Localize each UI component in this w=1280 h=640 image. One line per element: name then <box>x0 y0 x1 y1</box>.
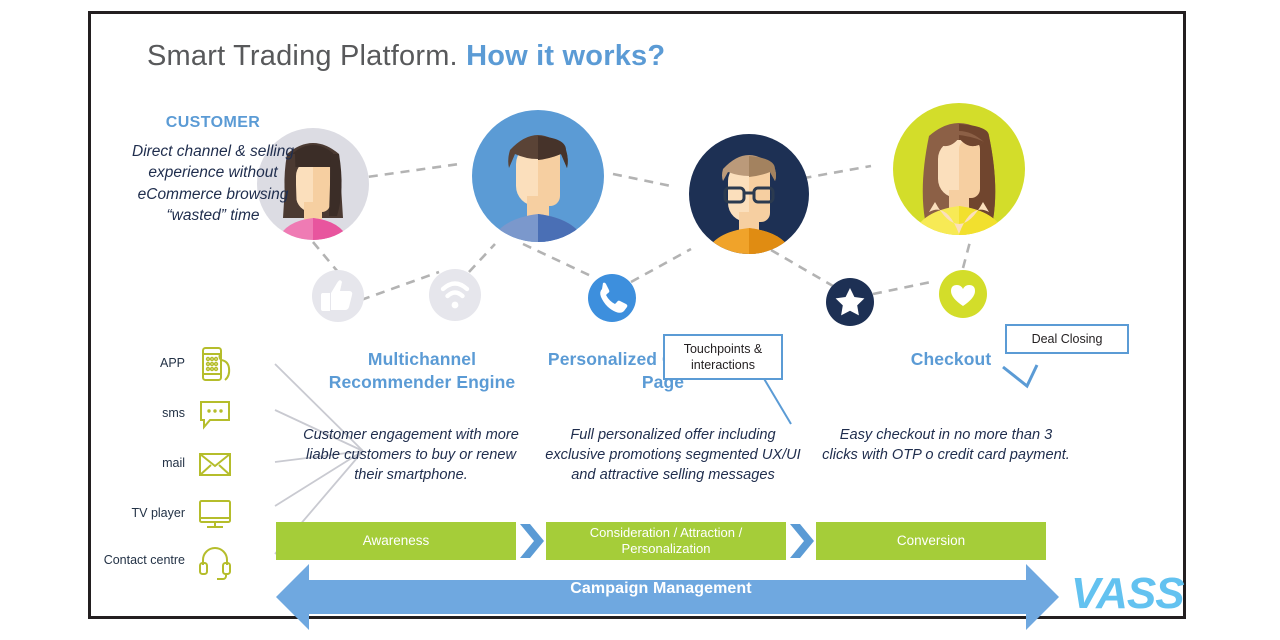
funnel-segment-consideration[interactable]: Consideration / Attraction / Personaliza… <box>546 522 786 560</box>
funnel-segment-conversion[interactable]: Conversion <box>816 522 1046 560</box>
slide-frame: Smart Trading Platform. How it works? CU… <box>88 11 1186 619</box>
funnel-chevron-1 <box>518 522 544 560</box>
campaign-management-arrow <box>276 564 1059 630</box>
funnel-chevron-2 <box>788 522 814 560</box>
funnel-segment-awareness[interactable]: Awareness <box>276 522 516 560</box>
